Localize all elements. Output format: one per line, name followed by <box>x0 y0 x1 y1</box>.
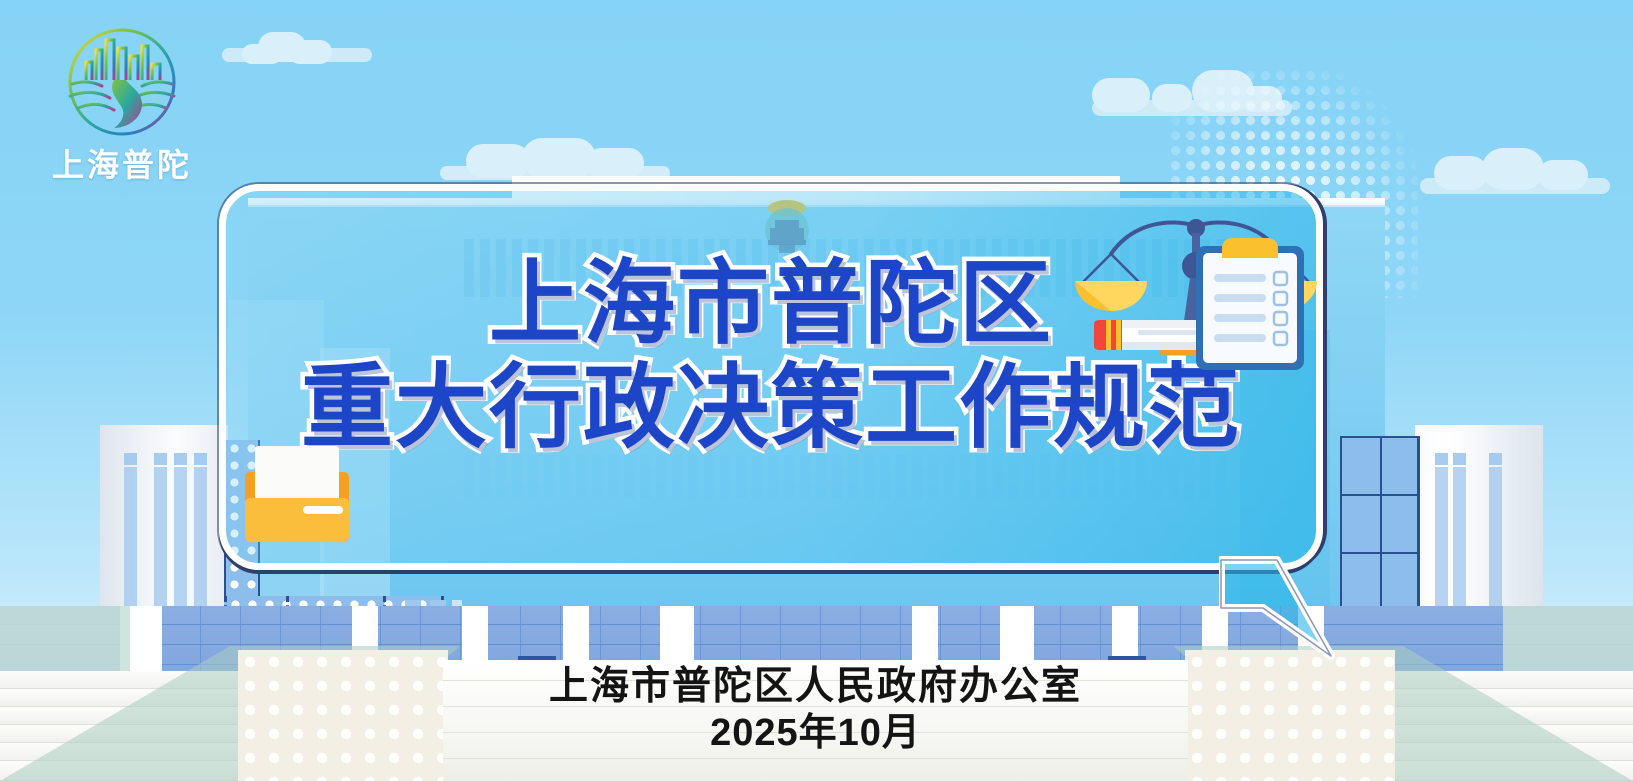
speech-bubble-tail <box>1219 556 1337 660</box>
stone-block-left <box>238 650 448 781</box>
cloud-far-right <box>1420 148 1610 194</box>
cloud-left <box>222 28 372 62</box>
clipboard-checklist-icon <box>1190 232 1310 372</box>
date-text: 2025年10月 <box>443 710 1188 756</box>
title-card: 上海市普陀区人民政府办公室 2025年10月 上海市普陀区 重大行政决策工作规范 <box>0 0 1633 781</box>
issuer-text: 上海市普陀区人民政府办公室 <box>443 664 1188 710</box>
cloud-upper-right <box>1092 68 1292 116</box>
logo-text: 上海普陀 <box>38 140 206 186</box>
logo[interactable]: 上海普陀 <box>38 22 206 180</box>
footer-caption: 上海市普陀区人民政府办公室 2025年10月 <box>443 664 1188 756</box>
putuo-skyline-circle-icon <box>56 22 188 142</box>
stone-block-right <box>1185 650 1395 781</box>
document-folder-icon <box>241 440 353 550</box>
cloud-mid-left <box>440 138 670 180</box>
